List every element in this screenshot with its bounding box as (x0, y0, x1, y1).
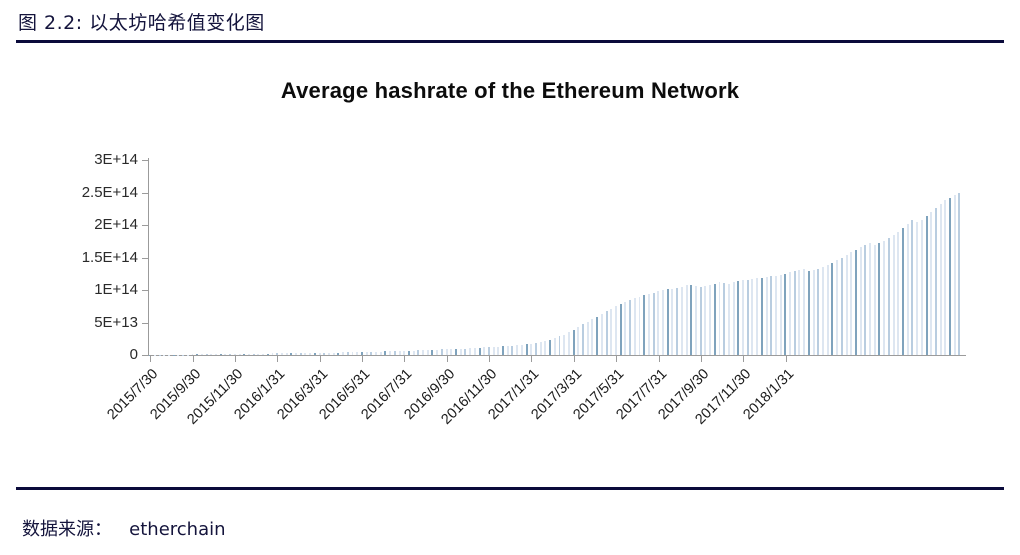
bar (337, 353, 339, 355)
bar (949, 198, 951, 355)
bar (639, 297, 641, 356)
bar (479, 348, 481, 355)
y-axis-tick (142, 323, 149, 324)
bar (511, 346, 513, 355)
bar (309, 353, 311, 355)
y-axis-tick (142, 355, 149, 356)
bar (516, 345, 518, 355)
bar (747, 280, 749, 355)
bar (469, 348, 471, 355)
bar (657, 291, 659, 355)
bar (441, 349, 443, 355)
bar (422, 350, 424, 355)
y-axis-tick (142, 193, 149, 194)
bar (935, 208, 937, 355)
bar (210, 354, 212, 355)
bar (775, 276, 777, 355)
bar (182, 355, 184, 356)
bar (798, 270, 800, 355)
bar (756, 278, 758, 355)
bar (869, 243, 871, 355)
bar (846, 255, 848, 355)
bar (897, 232, 899, 356)
bar (634, 298, 636, 355)
bar (450, 349, 452, 355)
bar (526, 344, 528, 355)
bar (431, 350, 433, 355)
bar (304, 353, 306, 355)
bar (610, 309, 612, 355)
bar (822, 267, 824, 355)
bar (662, 290, 664, 355)
bar (554, 338, 556, 355)
bar (601, 314, 603, 355)
bar (930, 212, 932, 355)
bar (780, 275, 782, 355)
bar (690, 285, 692, 355)
x-axis-line (144, 355, 966, 356)
bar (177, 355, 179, 356)
bar (300, 353, 302, 355)
bar (352, 352, 354, 355)
y-axis-tick-label: 5E+13 (50, 314, 138, 331)
bar (173, 355, 175, 356)
chart-figure: Average hashrate of the Ethereum Network… (0, 48, 1020, 486)
bar (483, 347, 485, 355)
bar (784, 274, 786, 355)
source-note: 数据来源： etherchain (22, 515, 226, 541)
bar (168, 355, 170, 356)
bar (704, 286, 706, 355)
bar (267, 354, 269, 355)
bar (342, 352, 344, 355)
bar (224, 354, 226, 355)
x-axis-tick (362, 355, 363, 362)
bar (737, 281, 739, 355)
x-axis-tick (320, 355, 321, 362)
x-axis-tick (574, 355, 575, 362)
bar (436, 350, 438, 355)
bar (587, 322, 589, 355)
bar (540, 342, 542, 355)
bar (893, 235, 895, 355)
bar (817, 269, 819, 355)
bar (413, 351, 415, 355)
y-axis-tick (142, 225, 149, 226)
bar (836, 260, 838, 355)
bar (940, 204, 942, 355)
bar (370, 352, 372, 355)
bar (591, 319, 593, 355)
bar (535, 343, 537, 355)
bar (888, 238, 890, 355)
bar (761, 278, 763, 355)
bar (733, 282, 735, 355)
bar (253, 354, 255, 355)
bar (921, 220, 923, 355)
bar (742, 280, 744, 355)
x-axis-tick (701, 355, 702, 362)
bar (841, 258, 843, 356)
x-axis-tick (489, 355, 490, 362)
bar (629, 300, 631, 355)
bar (497, 347, 499, 355)
x-axis-tick (659, 355, 660, 362)
bar (958, 193, 960, 356)
bar (394, 351, 396, 355)
bar (163, 355, 165, 356)
bar (878, 243, 880, 355)
bar (723, 283, 725, 355)
bar (695, 286, 697, 355)
bar (262, 354, 264, 355)
bar (563, 335, 565, 355)
bar (770, 276, 772, 355)
bar (803, 269, 805, 355)
bar (427, 350, 429, 355)
bar (384, 351, 386, 355)
divider-bottom (16, 487, 1004, 490)
bar (239, 354, 241, 355)
bar (333, 353, 335, 355)
bar (187, 355, 189, 356)
bar (323, 353, 325, 355)
x-axis-tick (277, 355, 278, 362)
bar (643, 295, 645, 355)
bar (544, 341, 546, 355)
bar (399, 351, 401, 355)
y-axis-tick (142, 290, 149, 291)
bar (582, 324, 584, 355)
bar (159, 355, 161, 356)
bar (864, 245, 866, 356)
bar (606, 311, 608, 355)
plot-area (148, 160, 962, 355)
bar (389, 351, 391, 355)
bar (808, 271, 810, 356)
bar (248, 354, 250, 355)
bar (813, 270, 815, 355)
x-axis-tick (531, 355, 532, 362)
figure-caption: 图 2.2: 以太坊哈希值变化图 (18, 8, 265, 35)
bar (860, 247, 862, 355)
bar (464, 349, 466, 356)
bar (620, 304, 622, 355)
bar (281, 353, 283, 355)
bar (831, 263, 833, 355)
bar (366, 352, 368, 355)
bar (573, 330, 575, 355)
y-axis-labels: 05E+131E+141.5E+142E+142.5E+143E+14 (46, 48, 138, 486)
bar (417, 350, 419, 355)
bar (314, 353, 316, 355)
bar (408, 351, 410, 355)
bar (530, 344, 532, 355)
bar (827, 265, 829, 355)
bar (686, 285, 688, 355)
bar (883, 241, 885, 355)
x-axis-tick (404, 355, 405, 362)
bar (206, 354, 208, 355)
bar (954, 195, 956, 355)
bar (926, 216, 928, 355)
bar (624, 302, 626, 355)
bar (229, 354, 231, 355)
y-axis-tick-label: 1E+14 (50, 281, 138, 298)
bar (356, 352, 358, 355)
bar (507, 346, 509, 355)
x-axis-tick (447, 355, 448, 362)
bar (700, 287, 702, 355)
bar (789, 272, 791, 355)
bar (907, 224, 909, 355)
bar (295, 353, 297, 355)
bar (855, 250, 857, 355)
divider-top (16, 40, 1004, 43)
chart-title: Average hashrate of the Ethereum Network (0, 78, 1020, 104)
bar (902, 228, 904, 355)
x-axis-tick (743, 355, 744, 362)
x-axis-tick (193, 355, 194, 362)
bar (220, 354, 222, 355)
y-axis-tick (142, 160, 149, 161)
bar (714, 284, 716, 356)
bar (257, 354, 259, 355)
bar (671, 289, 673, 355)
bar (460, 349, 462, 355)
y-axis-tick-label: 2E+14 (50, 216, 138, 233)
bar (728, 284, 730, 356)
bar (559, 336, 561, 355)
x-axis-tick (150, 355, 151, 362)
bar (719, 282, 721, 355)
bar (944, 200, 946, 355)
bar (681, 287, 683, 355)
y-axis-tick-label: 0 (50, 346, 138, 363)
bar (286, 353, 288, 355)
bar (521, 345, 523, 355)
bar (347, 352, 349, 355)
y-axis-tick (142, 258, 149, 259)
bar (493, 347, 495, 355)
bar (596, 317, 598, 355)
y-axis-tick-label: 1.5E+14 (50, 249, 138, 266)
bar (615, 306, 617, 355)
bar (201, 354, 203, 355)
bar (874, 245, 876, 356)
bar (196, 354, 198, 355)
bar (794, 271, 796, 355)
y-axis-tick-label: 2.5E+14 (50, 184, 138, 201)
bar (648, 294, 650, 355)
bar (215, 354, 217, 355)
bar (474, 348, 476, 355)
bar (751, 279, 753, 355)
x-axis-tick (786, 355, 787, 362)
bar (488, 347, 490, 355)
bar (653, 293, 655, 355)
bar (375, 352, 377, 355)
bar (328, 353, 330, 355)
bar (667, 289, 669, 355)
bar (380, 352, 382, 356)
x-axis-tick (235, 355, 236, 362)
bar (577, 327, 579, 355)
bar (455, 349, 457, 355)
bar (502, 346, 504, 355)
bar (911, 220, 913, 355)
bar (568, 332, 570, 355)
bar (154, 355, 156, 356)
y-axis-tick-label: 3E+14 (50, 151, 138, 168)
bar (676, 288, 678, 355)
bar (290, 353, 292, 355)
bar (916, 222, 918, 355)
bar (549, 340, 551, 355)
bar (243, 354, 245, 355)
x-axis-tick (616, 355, 617, 362)
bar (709, 285, 711, 355)
bar (850, 252, 852, 355)
bar (272, 353, 274, 355)
bar (766, 277, 768, 355)
